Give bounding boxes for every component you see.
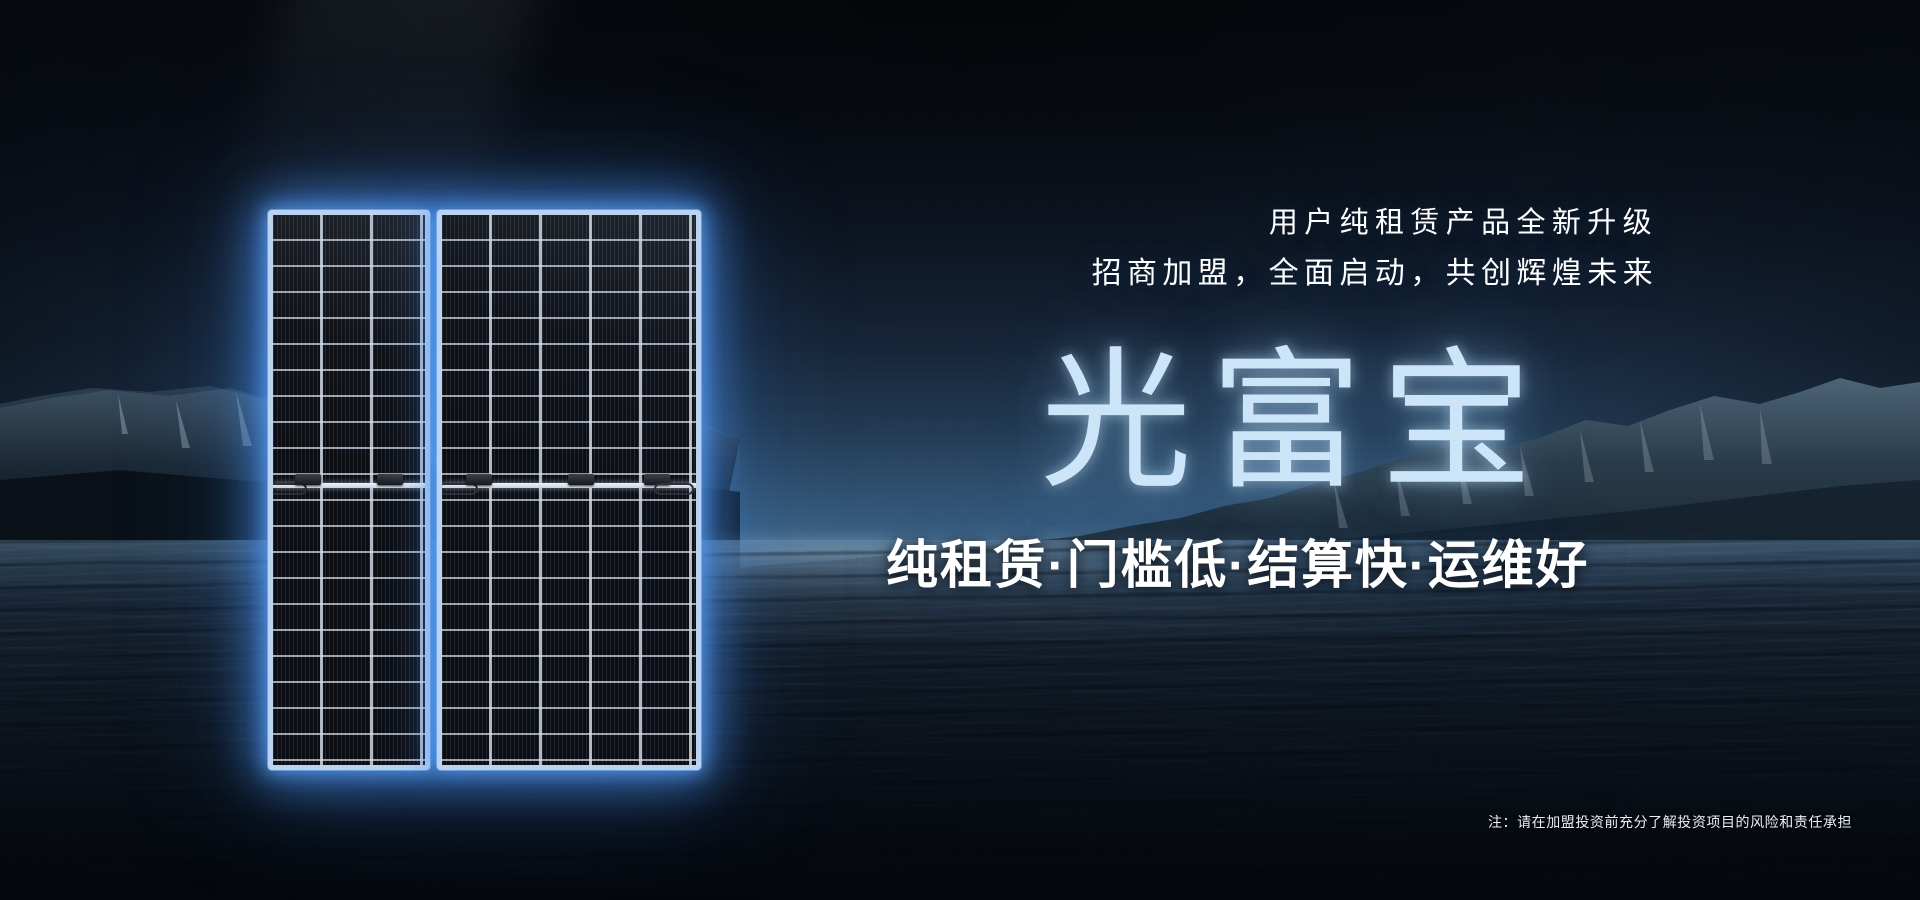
headline-line-2: 招商加盟，全面启动，共创辉煌未来 (1092, 256, 1658, 292)
solar-panel-left (268, 210, 430, 770)
promotional-banner: 用户纯租赁产品全新升级 招商加盟，全面启动，共创辉煌未来 光富宝 纯租赁·门槛低… (0, 0, 1920, 900)
junction-box-left-2 (377, 474, 403, 485)
disclaimer-note: 注：请在加盟投资前充分了解投资项目的风险和责任承担 (1488, 812, 1852, 832)
solar-panel-array (268, 210, 708, 770)
solar-panel-right (437, 210, 701, 770)
junction-box-left-1 (295, 474, 321, 485)
junction-box-right-1 (466, 474, 492, 485)
junction-box-right-2 (568, 474, 594, 485)
cable-loop-right-2 (654, 483, 694, 495)
brand-title: 光富宝 (1040, 346, 1551, 498)
headline-line-1: 用户纯租赁产品全新升级 (1269, 206, 1658, 241)
tagline: 纯租赁·门槛低·结算快·运维好 (886, 540, 1589, 592)
